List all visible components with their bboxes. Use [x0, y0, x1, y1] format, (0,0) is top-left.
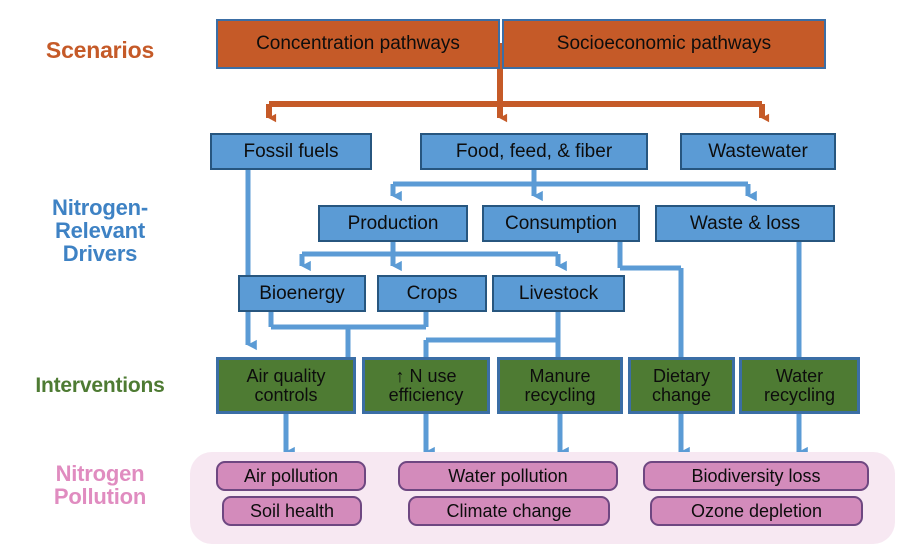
- node-food-feed-fiber[interactable]: Food, feed, & fiber: [420, 133, 648, 170]
- row-label-drivers: Nitrogen- Relevant Drivers: [10, 196, 190, 265]
- node-air-quality-controls[interactable]: Air quality controls: [216, 357, 356, 414]
- node-socioeconomic-pathways[interactable]: Socioeconomic pathways: [502, 19, 826, 69]
- node-bioenergy[interactable]: Bioenergy: [238, 275, 366, 312]
- node-concentration-pathways[interactable]: Concentration pathways: [216, 19, 500, 69]
- node-wastewater[interactable]: Wastewater: [680, 133, 836, 170]
- node-production[interactable]: Production: [318, 205, 468, 242]
- node-crops[interactable]: Crops: [377, 275, 487, 312]
- node-biodiversity-loss[interactable]: Biodiversity loss: [643, 461, 869, 491]
- node-water-pollution[interactable]: Water pollution: [398, 461, 618, 491]
- node-water-recycling[interactable]: Water recycling: [739, 357, 860, 414]
- node-waste-loss[interactable]: Waste & loss: [655, 205, 835, 242]
- node-fossil-fuels[interactable]: Fossil fuels: [210, 133, 372, 170]
- node-soil-health[interactable]: Soil health: [222, 496, 362, 526]
- node-dietary-change[interactable]: Dietary change: [628, 357, 735, 414]
- node-n-use-efficiency[interactable]: ↑ N use efficiency: [362, 357, 490, 414]
- node-manure-recycling[interactable]: Manure recycling: [497, 357, 623, 414]
- node-livestock[interactable]: Livestock: [492, 275, 625, 312]
- node-consumption[interactable]: Consumption: [482, 205, 640, 242]
- nitrogen-pathways-diagram: Scenarios Nitrogen- Relevant Drivers Int…: [0, 0, 900, 558]
- node-air-pollution[interactable]: Air pollution: [216, 461, 366, 491]
- node-climate-change[interactable]: Climate change: [408, 496, 610, 526]
- node-ozone-depletion[interactable]: Ozone depletion: [650, 496, 863, 526]
- row-label-interventions: Interventions: [5, 375, 195, 397]
- row-label-scenarios: Scenarios: [10, 38, 190, 62]
- row-label-pollution: Nitrogen Pollution: [10, 462, 190, 508]
